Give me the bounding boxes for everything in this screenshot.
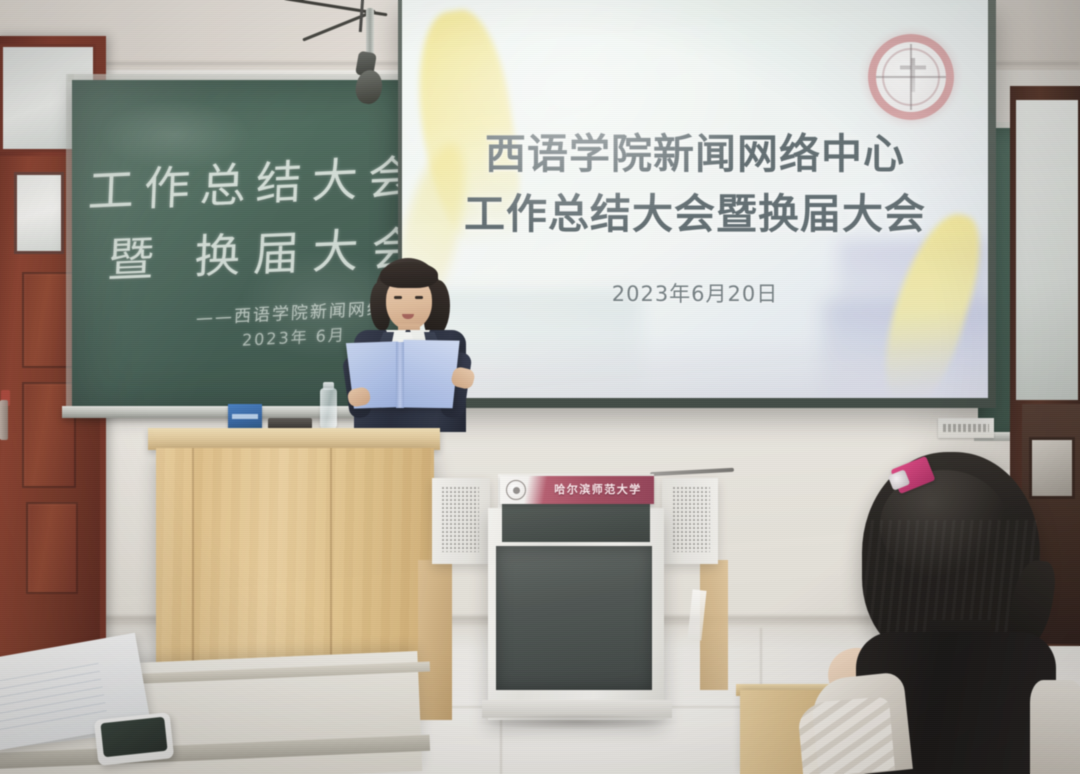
folder-spine: [396, 342, 404, 408]
speaker-eye-right: [415, 296, 423, 299]
water-bottle: [320, 388, 337, 430]
student-sleeve-right: [1030, 680, 1080, 774]
console-screen-panel[interactable]: [502, 504, 650, 542]
door-glass-pane: [14, 172, 64, 254]
classroom-photo: 工作总结大会 暨 换届大会 ——西语学院新闻网络中心 2023年 6月 西语学院…: [0, 0, 1080, 774]
cardboard-box-left: [418, 560, 452, 720]
screen-glare: [402, 0, 782, 240]
console-lower-panel: [496, 546, 652, 690]
cardboard-box-right: [700, 560, 728, 690]
screen-bottom-shade: [402, 334, 988, 398]
console-banner-text: 哈尔滨师范大学: [548, 481, 648, 497]
speaker-eye-left: [394, 296, 402, 299]
speaker-grille-right: [672, 486, 710, 552]
blue-box-label: [232, 414, 258, 419]
mic-rod: [366, 8, 374, 56]
student-sleeve-ruffle: [797, 696, 895, 774]
smartphone-screen[interactable]: [100, 717, 167, 758]
folder-right-page: [396, 340, 459, 409]
door-panel: [26, 502, 78, 594]
speaker-bangs: [380, 262, 438, 288]
door-handle[interactable]: [0, 400, 8, 440]
speaker-grille-left: [441, 486, 479, 552]
wall-sign-text: [943, 424, 989, 432]
lectern-top: [148, 428, 440, 450]
projection-screen: 西语学院新闻网络中心 工作总结大会暨换届大会 2023年6月20日: [402, 0, 988, 398]
slide-date: 2023年6月20日: [402, 278, 988, 308]
console-seal-center: [513, 487, 520, 494]
right-doorway-opening: [1016, 100, 1078, 400]
console-shadow: [478, 714, 678, 730]
wall-picture-frame: [1032, 440, 1072, 496]
